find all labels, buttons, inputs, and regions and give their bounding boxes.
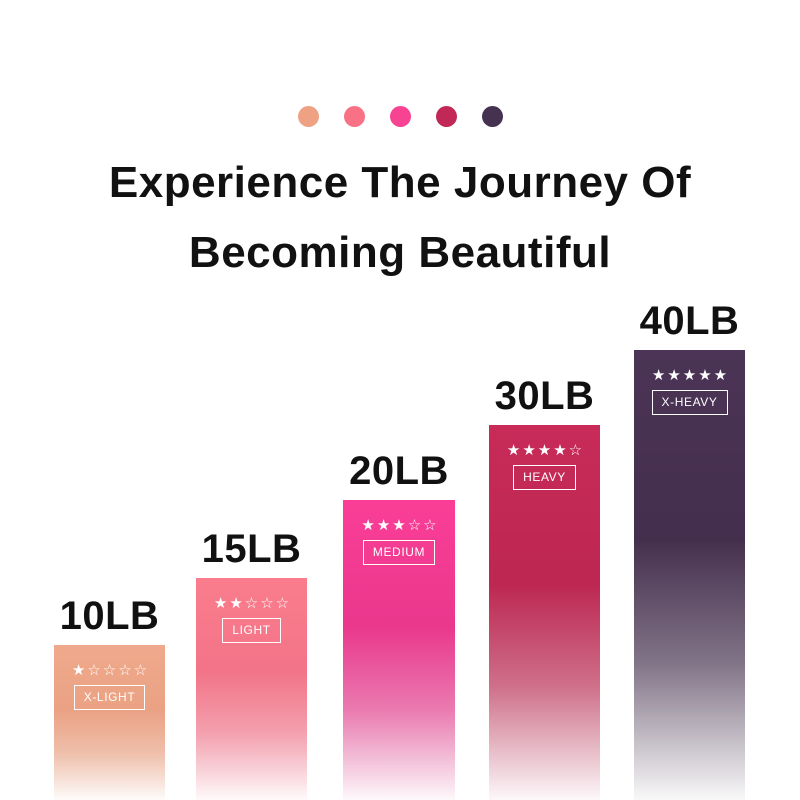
star-filled-icon: ★ bbox=[229, 596, 242, 611]
level-badge: X-HEAVY bbox=[652, 390, 728, 415]
bar: ★★☆☆☆LIGHT bbox=[196, 578, 307, 800]
star-rating: ★☆☆☆☆ bbox=[72, 663, 147, 678]
star-filled-icon: ★ bbox=[538, 443, 551, 458]
star-filled-icon: ★ bbox=[72, 663, 85, 678]
level-badge: X-LIGHT bbox=[74, 685, 146, 710]
star-filled-icon: ★ bbox=[522, 443, 535, 458]
bar-group-20lb[interactable]: 20LB★★★☆☆MEDIUM bbox=[343, 500, 455, 800]
star-empty-icon: ☆ bbox=[276, 596, 289, 611]
bar-value-label: 20LB bbox=[349, 448, 449, 494]
star-filled-icon: ★ bbox=[652, 368, 665, 383]
star-empty-icon: ☆ bbox=[118, 663, 131, 678]
star-empty-icon: ☆ bbox=[408, 518, 421, 533]
bar-content: ★★☆☆☆LIGHT bbox=[196, 596, 307, 643]
resistance-bar-chart: 10LB★☆☆☆☆X-LIGHT15LB★★☆☆☆LIGHT20LB★★★☆☆M… bbox=[0, 0, 800, 800]
star-rating: ★★★★★ bbox=[652, 368, 727, 383]
bar-value-label: 15LB bbox=[202, 526, 302, 572]
level-badge: HEAVY bbox=[513, 465, 576, 490]
star-filled-icon: ★ bbox=[507, 443, 520, 458]
star-filled-icon: ★ bbox=[361, 518, 374, 533]
bar-content: ★★★★☆HEAVY bbox=[489, 443, 600, 490]
star-filled-icon: ★ bbox=[714, 368, 727, 383]
star-empty-icon: ☆ bbox=[569, 443, 582, 458]
star-filled-icon: ★ bbox=[667, 368, 680, 383]
bar-fade-overlay bbox=[489, 583, 600, 800]
star-rating: ★★★☆☆ bbox=[361, 518, 436, 533]
star-rating: ★★★★☆ bbox=[507, 443, 582, 458]
bar-content: ★☆☆☆☆X-LIGHT bbox=[54, 663, 165, 710]
star-filled-icon: ★ bbox=[553, 443, 566, 458]
star-filled-icon: ★ bbox=[214, 596, 227, 611]
star-empty-icon: ☆ bbox=[423, 518, 436, 533]
bar-fade-overlay bbox=[343, 626, 455, 800]
star-filled-icon: ★ bbox=[683, 368, 696, 383]
bar: ★☆☆☆☆X-LIGHT bbox=[54, 645, 165, 800]
star-rating: ★★☆☆☆ bbox=[214, 596, 289, 611]
bar: ★★★★★X-HEAVY bbox=[634, 350, 745, 800]
bar-fade-overlay bbox=[196, 671, 307, 800]
bar: ★★★★☆HEAVY bbox=[489, 425, 600, 800]
bar-group-10lb[interactable]: 10LB★☆☆☆☆X-LIGHT bbox=[54, 645, 165, 800]
bar-group-40lb[interactable]: 40LB★★★★★X-HEAVY bbox=[634, 350, 745, 800]
bar-group-30lb[interactable]: 30LB★★★★☆HEAVY bbox=[489, 425, 600, 800]
bar-value-label: 10LB bbox=[60, 593, 160, 639]
bar: ★★★☆☆MEDIUM bbox=[343, 500, 455, 800]
bar-fade-overlay bbox=[634, 539, 745, 800]
level-badge: MEDIUM bbox=[363, 540, 435, 565]
level-badge: LIGHT bbox=[222, 618, 280, 643]
star-empty-icon: ☆ bbox=[103, 663, 116, 678]
star-empty-icon: ☆ bbox=[87, 663, 100, 678]
star-empty-icon: ☆ bbox=[260, 596, 273, 611]
star-filled-icon: ★ bbox=[392, 518, 405, 533]
promo-banner: Experience The Journey Of Becoming Beaut… bbox=[0, 0, 800, 800]
bar-fade-overlay bbox=[54, 710, 165, 800]
bar-value-label: 40LB bbox=[640, 298, 740, 344]
bar-content: ★★★☆☆MEDIUM bbox=[343, 518, 455, 565]
bar-content: ★★★★★X-HEAVY bbox=[634, 368, 745, 415]
star-filled-icon: ★ bbox=[377, 518, 390, 533]
star-empty-icon: ☆ bbox=[134, 663, 147, 678]
bar-group-15lb[interactable]: 15LB★★☆☆☆LIGHT bbox=[196, 578, 307, 800]
star-empty-icon: ☆ bbox=[245, 596, 258, 611]
star-filled-icon: ★ bbox=[698, 368, 711, 383]
bar-value-label: 30LB bbox=[495, 373, 595, 419]
